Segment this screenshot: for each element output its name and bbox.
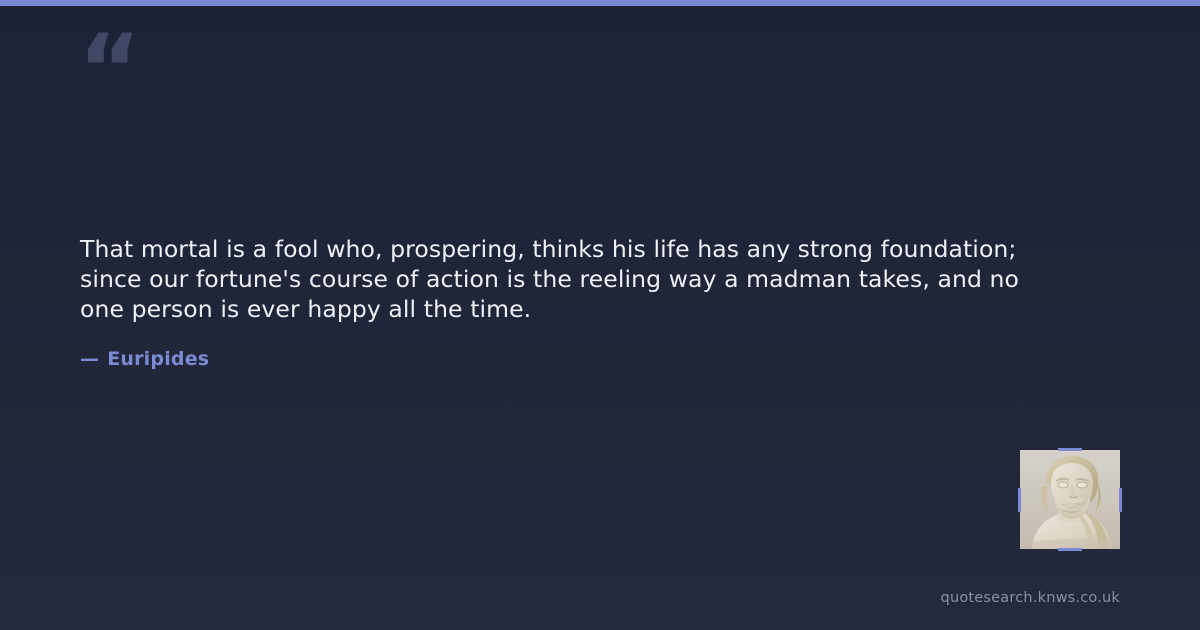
attribution-author: Euripides [107,348,209,370]
top-accent-bar [0,0,1200,6]
portrait-image [1020,450,1120,549]
author-portrait [1020,450,1120,549]
portrait-tick-bottom [1058,548,1082,551]
quote-card: “ That mortal is a fool who, prospering,… [0,0,1200,630]
quote-body: That mortal is a fool who, prospering, t… [80,234,1040,324]
portrait-tick-top [1058,448,1082,451]
quote-attribution: —Euripides [80,348,209,370]
bust-illustration [1020,450,1120,549]
portrait-tick-right [1119,488,1122,512]
open-quote-icon: “ [78,22,139,118]
portrait-tick-left [1018,488,1021,512]
attribution-dash: — [80,348,99,370]
quote-text: That mortal is a fool who, prospering, t… [80,234,1040,324]
site-watermark: quotesearch.knws.co.uk [941,590,1120,606]
